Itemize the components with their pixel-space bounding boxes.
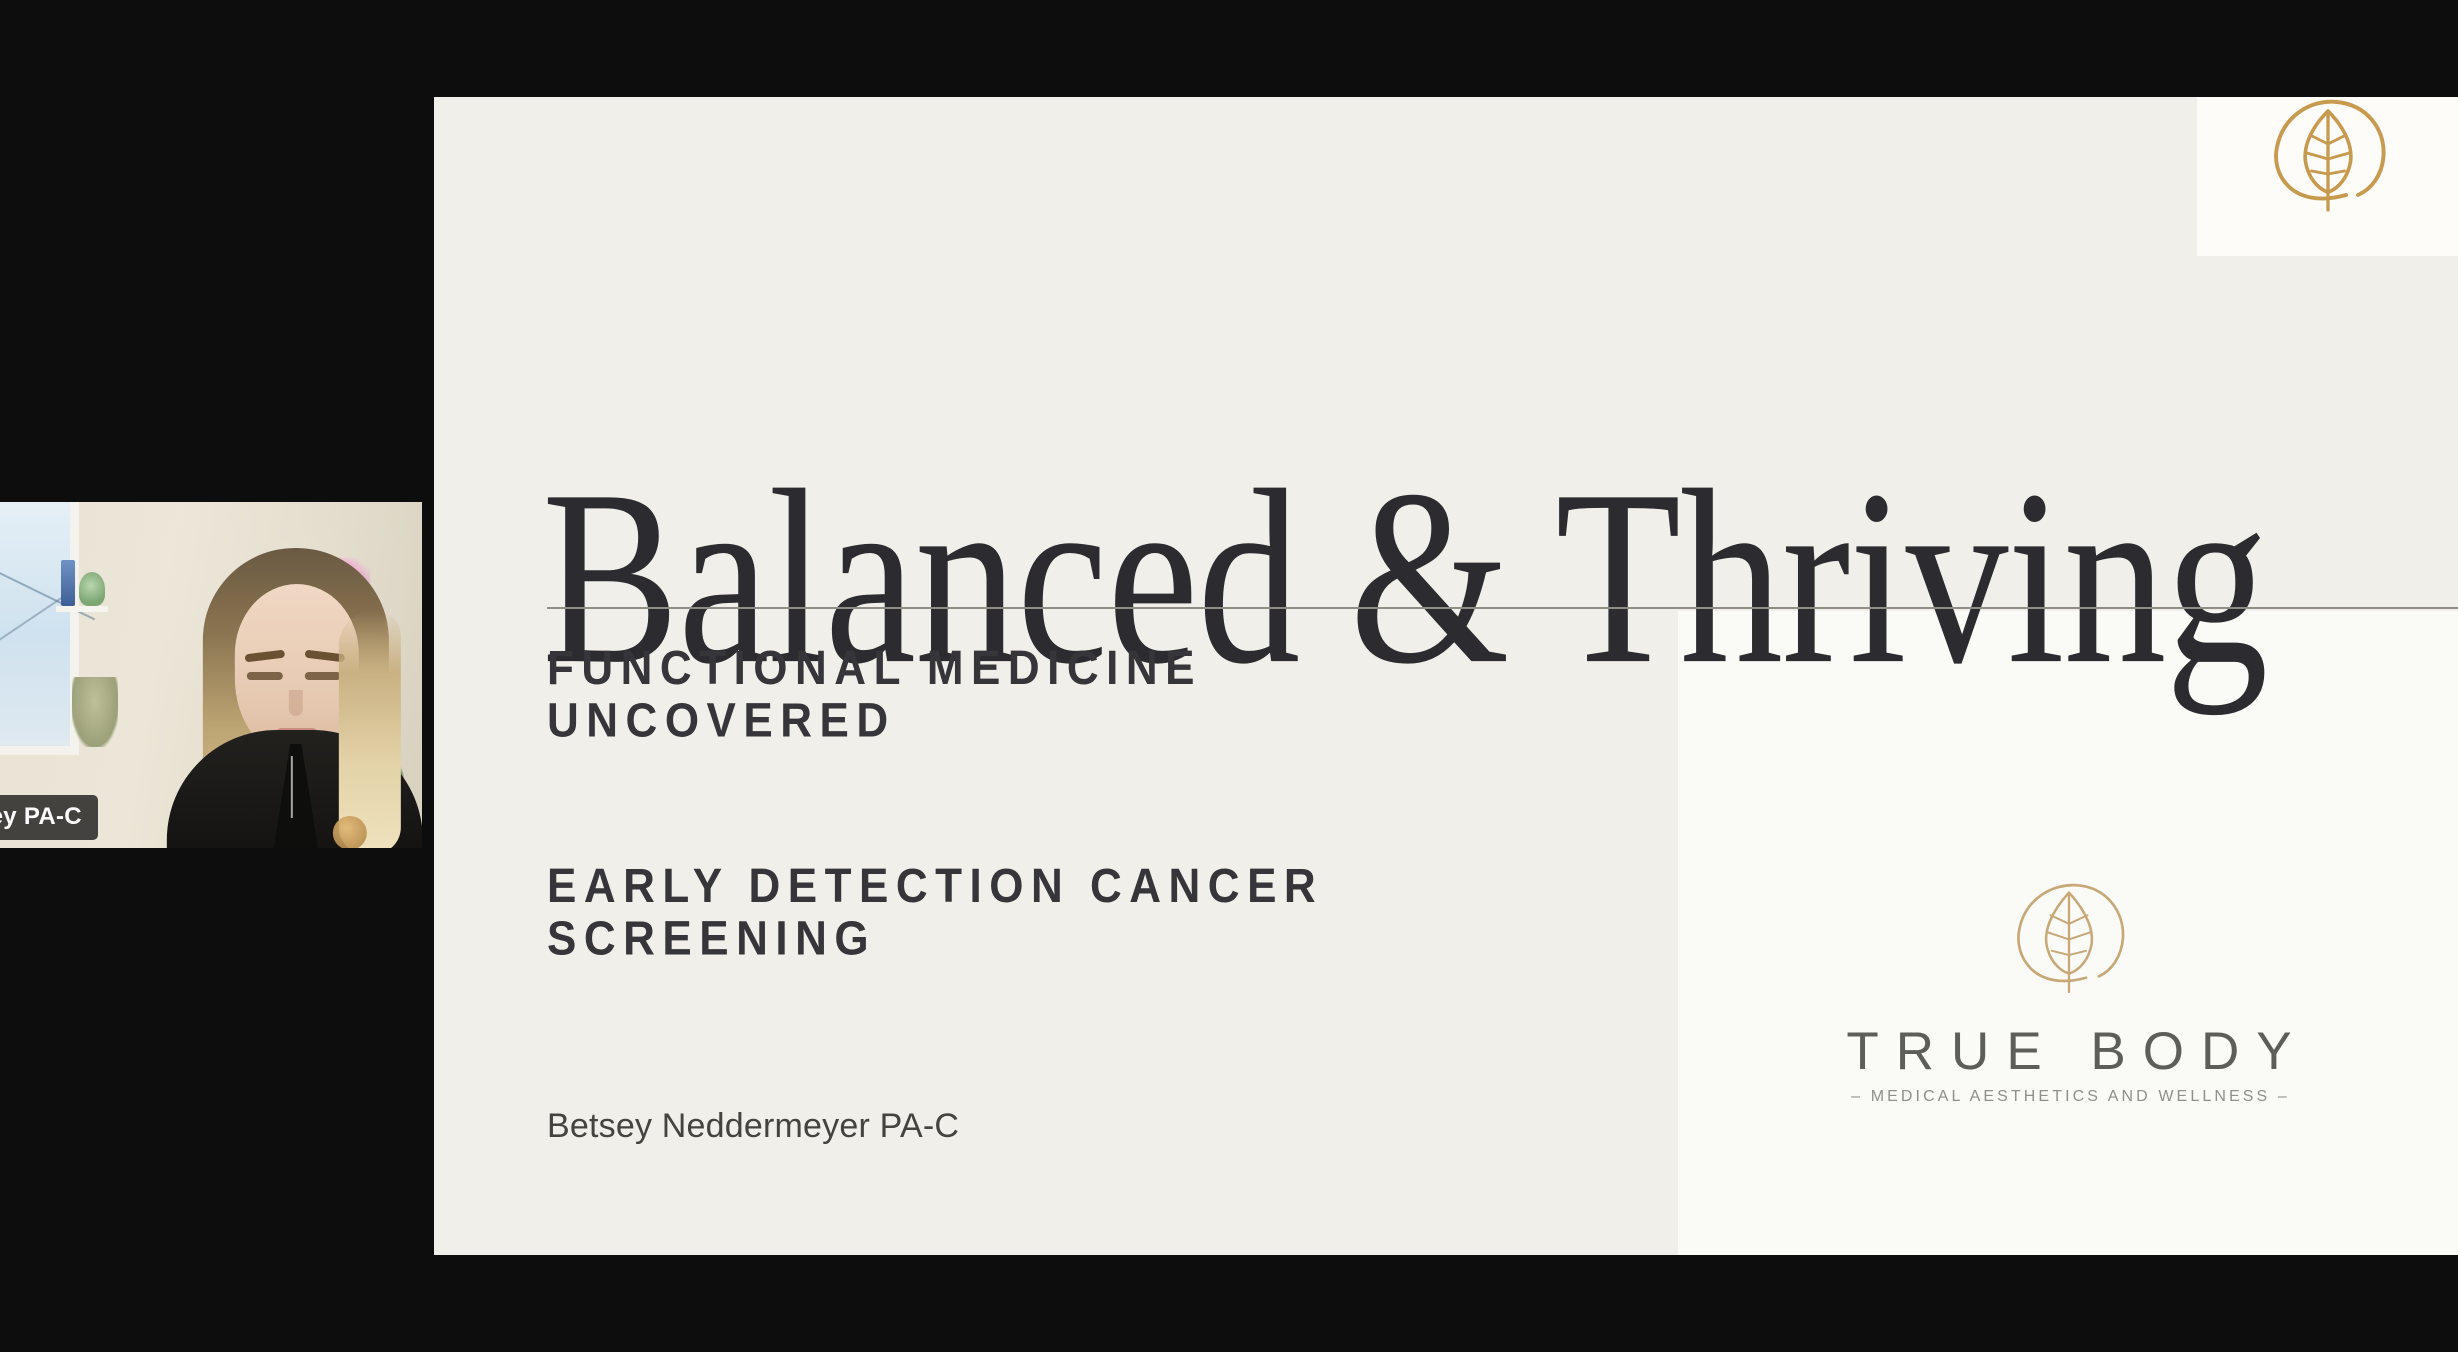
necklace xyxy=(291,756,293,818)
participant-person xyxy=(177,548,413,848)
window-decor xyxy=(0,502,79,755)
shelf-decor xyxy=(56,606,108,612)
subheading-early-detection: EARLY DETECTION CANCER SCREENING xyxy=(547,860,1323,965)
brand-tagline: – MEDICAL AESTHETICS AND WELLNESS – xyxy=(1764,1088,2374,1106)
shelf-object-blue xyxy=(61,560,75,606)
eye-right xyxy=(305,672,341,680)
hanging-plant-decor xyxy=(72,677,118,747)
leaf-in-circle-icon xyxy=(1998,867,2140,1014)
subheading-functional-medicine: FUNCTIONAL MEDICINE UNCOVERED xyxy=(547,642,1202,747)
participant-video-tile[interactable]: etsey PA-C xyxy=(0,502,422,848)
participant-name-label: etsey PA-C xyxy=(0,795,98,840)
title-divider-rule xyxy=(547,607,2458,609)
corner-logo-card xyxy=(2197,97,2458,256)
eye-left xyxy=(247,672,283,680)
leaf-in-circle-icon xyxy=(2253,97,2403,236)
presenter-byline: Betsey Neddermeyer PA-C xyxy=(547,1107,959,1146)
meeting-stage: Balanced & Thriving FUNCTIONAL MEDICINE … xyxy=(0,0,2458,1352)
hair-front xyxy=(339,610,401,848)
nose xyxy=(289,690,303,716)
brand-lockup: TRUE BODY – MEDICAL AESTHETICS AND WELLN… xyxy=(1764,867,2374,1106)
shared-screen-slide[interactable]: Balanced & Thriving FUNCTIONAL MEDICINE … xyxy=(434,97,2458,1255)
brand-name: TRUE BODY xyxy=(1764,1024,2374,1080)
shelf-object-plant xyxy=(79,572,105,606)
badge-decor xyxy=(333,816,367,848)
